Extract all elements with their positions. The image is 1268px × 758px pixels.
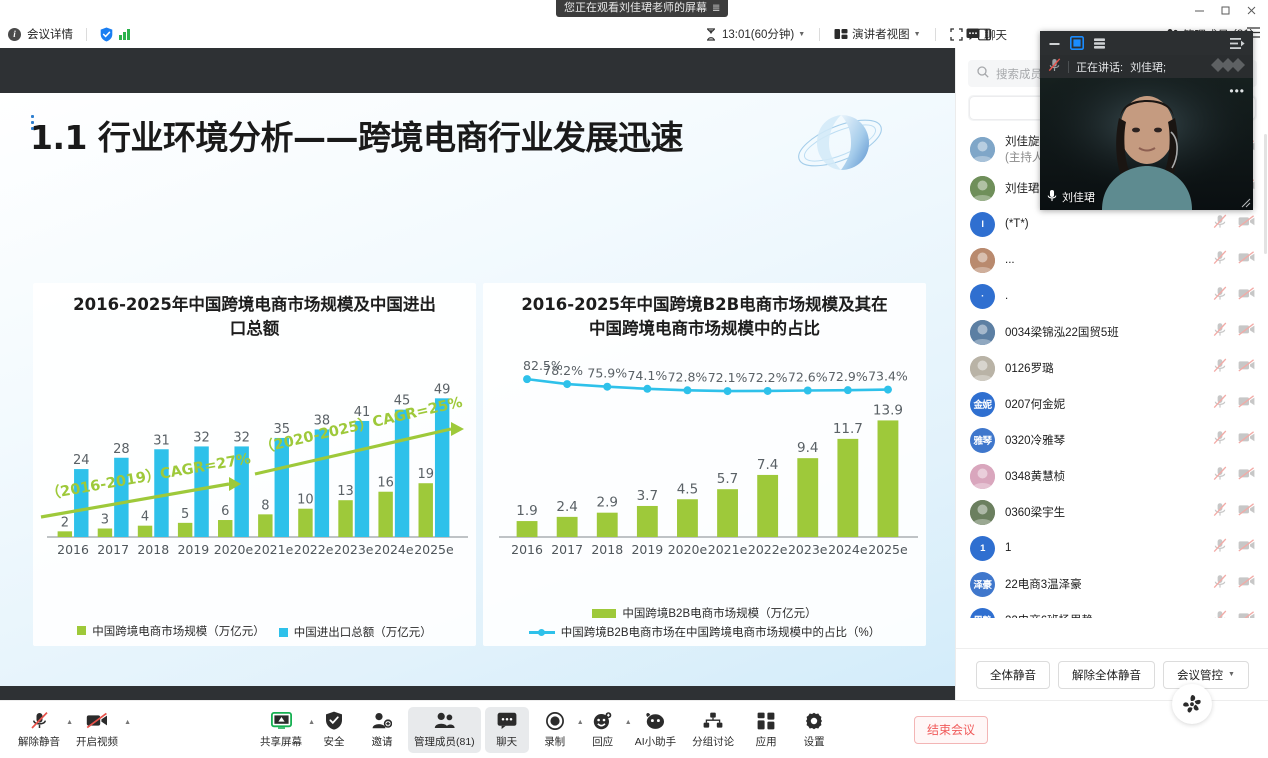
participant-status-icons bbox=[1213, 358, 1255, 378]
toolbar-button-label: 共享屏幕 bbox=[260, 734, 302, 749]
participant-name: 22电商3温泽豪 bbox=[1005, 576, 1203, 592]
legend-entry: 中国跨境电商市场规模（万亿元） bbox=[77, 621, 265, 640]
svg-text:32: 32 bbox=[233, 430, 250, 445]
speaker-video-window[interactable]: 正在讲话: 刘佳珺; bbox=[1040, 31, 1253, 210]
svg-text:10: 10 bbox=[297, 493, 314, 508]
end-meeting-wrap: 结束会议 bbox=[914, 716, 988, 744]
avatar bbox=[970, 176, 995, 201]
participant-name: 0126罗璐 bbox=[1005, 360, 1203, 376]
participant-name: 0207何金妮 bbox=[1005, 396, 1203, 412]
mic-muted-icon[interactable] bbox=[1213, 574, 1227, 594]
svg-text:2.4: 2.4 bbox=[556, 499, 577, 515]
toolbar-button-label: 回应 bbox=[592, 734, 613, 749]
avatar: 泽豪 bbox=[970, 572, 995, 597]
video-more-options-icon[interactable]: ••• bbox=[1229, 84, 1245, 98]
svg-text:28: 28 bbox=[113, 442, 130, 457]
svg-text:2.9: 2.9 bbox=[597, 495, 618, 511]
svg-text:2024e: 2024e bbox=[828, 542, 868, 557]
mic-muted-icon bbox=[30, 711, 49, 731]
chat-icon bbox=[497, 711, 517, 731]
svg-text:78.2%: 78.2% bbox=[543, 363, 583, 378]
toolbar-left-group: 解除静音▲开启视频▲ bbox=[12, 707, 124, 753]
toolbar-button-breakout-rooms[interactable]: 分组讨论 bbox=[686, 707, 740, 753]
svg-text:2018: 2018 bbox=[137, 542, 169, 557]
svg-text:2020e: 2020e bbox=[214, 542, 254, 557]
chart-title-right: 2016-2025年中国跨境B2B电商市场规模及其在中国跨境电商市场规模中的占比 bbox=[483, 283, 926, 341]
svg-text:2018: 2018 bbox=[591, 542, 623, 557]
chat-icon bbox=[966, 28, 980, 43]
chart-title-left: 2016-2025年中国跨境电商市场规模及中国进出口总额 bbox=[33, 283, 476, 341]
avatar bbox=[970, 320, 995, 345]
svg-text:31: 31 bbox=[153, 433, 170, 448]
meeting-control-button[interactable]: 会议管控 ▼ bbox=[1163, 661, 1249, 689]
avatar bbox=[970, 248, 995, 273]
speaker-view-icon bbox=[834, 27, 848, 41]
legend-label: 中国跨境B2B电商市场在中国跨境电商市场规模中的占比（%） bbox=[561, 624, 880, 640]
divider bbox=[935, 28, 936, 41]
avatar bbox=[970, 356, 995, 381]
mute-all-button[interactable]: 全体静音 bbox=[976, 661, 1050, 689]
svg-text:7.4: 7.4 bbox=[757, 457, 778, 473]
toolbar-button-shield[interactable]: 安全 bbox=[312, 707, 356, 753]
svg-text:2019: 2019 bbox=[177, 542, 209, 557]
participant-row[interactable]: ... bbox=[956, 242, 1268, 278]
camera-off-icon[interactable] bbox=[1238, 539, 1255, 557]
video-name-label: 刘佳珺 bbox=[1062, 189, 1095, 205]
camera-off-icon[interactable] bbox=[1238, 467, 1255, 485]
svg-text:4: 4 bbox=[141, 510, 149, 525]
now-speaking-bar: 正在讲话: 刘佳珺; bbox=[1040, 55, 1253, 78]
participants-icon bbox=[434, 711, 455, 731]
toolbar-button-invite[interactable]: 邀请 bbox=[360, 707, 404, 753]
camera-off-icon[interactable] bbox=[1238, 395, 1255, 413]
mic-muted-icon[interactable] bbox=[1213, 466, 1227, 486]
chart-plot-left: 22420163282017431201853220196322020e8352… bbox=[33, 341, 476, 596]
svg-text:11.7: 11.7 bbox=[833, 421, 863, 437]
participant-status-icons bbox=[1213, 214, 1255, 234]
settings-gear-icon bbox=[805, 711, 823, 731]
toolbar-button-record[interactable]: 录制▲ bbox=[533, 707, 577, 753]
legend-entry: 中国跨境B2B电商市场在中国跨境电商市场规模中的占比（%） bbox=[483, 624, 926, 640]
svg-text:72.1%: 72.1% bbox=[708, 370, 748, 385]
meeting-control-label: 会议管控 bbox=[1177, 667, 1223, 683]
svg-text:2025e: 2025e bbox=[414, 542, 454, 557]
participant-name: 0320冷雅琴 bbox=[1005, 432, 1203, 448]
minimize-button[interactable] bbox=[1186, 0, 1212, 20]
legend-entry: 中国进出口总额（万亿元） bbox=[279, 624, 432, 640]
participant-row[interactable]: 金妮0207何金妮 bbox=[956, 386, 1268, 422]
end-meeting-button[interactable]: 结束会议 bbox=[914, 716, 988, 744]
participant-status-icons bbox=[1213, 466, 1255, 486]
hourglass-icon bbox=[704, 27, 718, 41]
toolbar-button-label: 邀请 bbox=[372, 734, 393, 749]
divider bbox=[86, 28, 87, 41]
avatar bbox=[970, 137, 995, 162]
toolbar-button-mic-muted[interactable]: 解除静音▲ bbox=[12, 707, 66, 753]
svg-text:13: 13 bbox=[337, 484, 354, 499]
slide-title: 1.1 行业环境分析——跨境电商行业发展迅速 bbox=[30, 111, 683, 159]
svg-text:2: 2 bbox=[61, 515, 69, 530]
svg-text:72.9%: 72.9% bbox=[828, 369, 868, 384]
participant-status-icons bbox=[1213, 574, 1255, 594]
svg-text:32: 32 bbox=[193, 430, 210, 445]
svg-text:72.2%: 72.2% bbox=[748, 370, 788, 385]
chevron-down-icon: ▼ bbox=[1228, 671, 1235, 678]
mic-muted-icon[interactable] bbox=[1213, 538, 1227, 558]
avatar: · bbox=[970, 284, 995, 309]
meeting-toolbar: 解除静音▲开启视频▲ 共享屏幕▲安全邀请管理成员(81)聊天录制▲回应▲AI小助… bbox=[0, 700, 1268, 758]
chart-card-right: 2016-2025年中国跨境B2B电商市场规模及其在中国跨境电商市场规模中的占比… bbox=[483, 283, 926, 646]
svg-text:75.9%: 75.9% bbox=[587, 366, 627, 381]
participant-name: (*T*) bbox=[1005, 218, 1203, 230]
toolbar-button-reaction[interactable]: 回应▲ bbox=[581, 707, 625, 753]
participant-status-icons bbox=[1213, 502, 1255, 522]
window-controls bbox=[1186, 0, 1264, 20]
search-icon bbox=[977, 66, 989, 81]
video-minimize-icon[interactable] bbox=[1048, 37, 1061, 50]
participant-name: 0348黄慧桢 bbox=[1005, 468, 1203, 484]
divider bbox=[1068, 61, 1069, 73]
svg-text:2016: 2016 bbox=[57, 542, 89, 557]
now-speaking-name: 刘佳珺; bbox=[1130, 59, 1166, 75]
toolbar-button-label: 解除静音 bbox=[18, 734, 60, 749]
close-button[interactable] bbox=[1238, 0, 1264, 20]
svg-text:2020e: 2020e bbox=[668, 542, 708, 557]
participant-row[interactable]: 0348黄慧桢 bbox=[956, 458, 1268, 494]
camera-off-icon[interactable] bbox=[1238, 215, 1255, 233]
avatar: 雅琴 bbox=[970, 428, 995, 453]
participant-row[interactable]: ·. bbox=[956, 278, 1268, 314]
svg-text:2017: 2017 bbox=[551, 542, 583, 557]
participant-status-icons bbox=[1213, 538, 1255, 558]
svg-text:2023e: 2023e bbox=[334, 542, 374, 557]
video-single-layout-icon[interactable] bbox=[1070, 36, 1084, 50]
camera-off-icon bbox=[86, 711, 108, 731]
shield-icon bbox=[325, 711, 343, 731]
participant-status-icons bbox=[1213, 286, 1255, 306]
network-signal-icon[interactable] bbox=[119, 28, 130, 40]
svg-text:16: 16 bbox=[377, 476, 394, 491]
speaker-video-feed: ••• 刘佳珺 bbox=[1040, 78, 1253, 210]
toolbar-button-chat[interactable]: 聊天 bbox=[485, 707, 529, 753]
svg-text:73.4%: 73.4% bbox=[868, 368, 908, 383]
participant-row[interactable]: 0360梁宇生 bbox=[956, 494, 1268, 530]
svg-text:49: 49 bbox=[434, 382, 451, 397]
toolbar-button-label: 设置 bbox=[804, 734, 825, 749]
mic-muted-icon[interactable] bbox=[1213, 214, 1227, 234]
end-meeting-label: 结束会议 bbox=[927, 721, 975, 738]
svg-text:6: 6 bbox=[221, 504, 229, 519]
mic-muted-icon bbox=[1048, 58, 1061, 75]
svg-text:2017: 2017 bbox=[97, 542, 129, 557]
divider bbox=[819, 28, 820, 41]
mic-active-icon bbox=[1046, 189, 1058, 205]
mute-all-label: 全体静音 bbox=[990, 667, 1036, 683]
meeting-timer[interactable]: 13:01(60分钟) ▼ bbox=[697, 26, 812, 42]
svg-text:3.7: 3.7 bbox=[637, 488, 658, 504]
participants-scrollbar[interactable] bbox=[1264, 134, 1267, 254]
presentation-slide: 1.1 行业环境分析——跨境电商行业发展迅速 2016-2025年中国跨境电商市… bbox=[0, 93, 955, 686]
camera-off-icon[interactable] bbox=[1238, 611, 1255, 618]
participant-row[interactable]: l(*T*) bbox=[956, 206, 1268, 242]
participant-status-icons bbox=[1213, 610, 1255, 618]
svg-text:9.4: 9.4 bbox=[797, 440, 818, 456]
toolbar-button-share-screen[interactable]: 共享屏幕▲ bbox=[254, 707, 308, 753]
legend-swatch bbox=[592, 609, 616, 618]
toolbar-button-participants[interactable]: 管理成员(81) bbox=[408, 707, 481, 753]
participant-status-icons bbox=[1213, 394, 1255, 414]
svg-text:2021e: 2021e bbox=[708, 542, 748, 557]
mic-muted-icon[interactable] bbox=[1213, 430, 1227, 450]
mic-muted-icon[interactable] bbox=[1213, 286, 1227, 306]
mic-muted-icon[interactable] bbox=[1213, 322, 1227, 342]
camera-off-icon[interactable] bbox=[1238, 323, 1255, 341]
svg-text:2022e: 2022e bbox=[748, 542, 788, 557]
participant-row[interactable]: 思静22电商6班杨思静 bbox=[956, 602, 1268, 618]
watching-screen-text: 您正在观看刘佳珺老师的屏幕 bbox=[564, 0, 707, 17]
toolbar-button-ai-assistant[interactable]: AI小助手 bbox=[629, 707, 682, 753]
chart-plot-right: 1.920162.420172.920183.720194.52020e5.72… bbox=[483, 341, 926, 596]
tab-chat[interactable]: 聊天 bbox=[966, 27, 1007, 43]
participant-row[interactable]: 0034梁锦泓22国贸5班 bbox=[956, 314, 1268, 350]
record-icon bbox=[546, 711, 564, 731]
participant-name: 1 bbox=[1005, 542, 1203, 554]
legend-label: 中国跨境电商市场规模（万亿元） bbox=[92, 623, 265, 639]
legend-label: 中国跨境B2B电商市场规模（万亿元） bbox=[622, 605, 816, 621]
toolbar-button-label: 开启视频 bbox=[76, 734, 118, 749]
chevron-up-icon[interactable]: ▲ bbox=[124, 719, 131, 726]
legend-label: 中国进出口总额（万亿元） bbox=[294, 624, 432, 640]
mic-muted-icon[interactable] bbox=[1213, 358, 1227, 378]
ai-assistant-icon bbox=[1180, 692, 1204, 716]
info-icon: i bbox=[8, 28, 21, 41]
chart-svg-right: 1.920162.420172.920183.720194.52020e5.72… bbox=[483, 341, 926, 591]
toolbar-button-label: 聊天 bbox=[496, 734, 517, 749]
svg-text:2023e: 2023e bbox=[788, 542, 828, 557]
toolbar-button-label: AI小助手 bbox=[635, 734, 676, 749]
svg-text:2024e: 2024e bbox=[374, 542, 414, 557]
participant-row[interactable]: 雅琴0320冷雅琴 bbox=[956, 422, 1268, 458]
participant-status-icons bbox=[1213, 250, 1255, 270]
avatar: 思静 bbox=[970, 608, 995, 619]
svg-text:1.9: 1.9 bbox=[516, 503, 537, 519]
view-mode-selector[interactable]: 演讲者视图 ▼ bbox=[827, 26, 927, 42]
shared-screen-area[interactable]: 1.1 行业环境分析——跨境电商行业发展迅速 2016-2025年中国跨境电商市… bbox=[0, 48, 955, 700]
share-screen-icon bbox=[271, 711, 292, 731]
maximize-button[interactable] bbox=[1212, 0, 1238, 20]
svg-text:2022e: 2022e bbox=[294, 542, 334, 557]
chart-card-left: 2016-2025年中国跨境电商市场规模及中国进出口总额 22420163282… bbox=[33, 283, 476, 646]
svg-text:72.6%: 72.6% bbox=[788, 369, 828, 384]
mic-muted-icon[interactable] bbox=[1213, 610, 1227, 618]
svg-text:72.8%: 72.8% bbox=[668, 369, 708, 384]
toolbar-button-label: 安全 bbox=[324, 734, 345, 749]
participant-status-icons bbox=[1213, 322, 1255, 342]
globe-decoration-icon bbox=[785, 103, 895, 183]
svg-text:5: 5 bbox=[181, 507, 189, 522]
camera-off-icon[interactable] bbox=[1238, 359, 1255, 377]
chevron-down-icon[interactable]: ▼ bbox=[914, 31, 921, 38]
reaction-icon bbox=[592, 711, 613, 731]
legend-swatch bbox=[279, 628, 288, 637]
toolbar-button-label: 分组讨论 bbox=[692, 734, 734, 749]
watching-screen-banner: 您正在观看刘佳珺老师的屏幕 ≣ bbox=[556, 0, 728, 17]
toolbar-button-label: 应用 bbox=[756, 734, 777, 749]
participant-name: . bbox=[1005, 290, 1203, 302]
toolbar-button-label: 录制 bbox=[544, 734, 565, 749]
participants-footer: 全体静音 解除全体静音 会议管控 ▼ bbox=[956, 648, 1268, 700]
participant-row[interactable]: 11 bbox=[956, 530, 1268, 566]
svg-text:13.9: 13.9 bbox=[873, 402, 903, 418]
legend-line-marker bbox=[529, 631, 555, 634]
svg-text:5.7: 5.7 bbox=[717, 471, 738, 487]
svg-text:8: 8 bbox=[261, 498, 269, 513]
chevron-down-icon[interactable]: ▼ bbox=[798, 31, 805, 38]
now-speaking-label: 正在讲话: bbox=[1076, 59, 1123, 75]
view-mode-label: 演讲者视图 bbox=[852, 26, 910, 42]
legend-entry: 中国跨境B2B电商市场规模（万亿元） bbox=[483, 605, 926, 621]
svg-text:4.5: 4.5 bbox=[677, 481, 698, 497]
mic-muted-icon[interactable] bbox=[1213, 502, 1227, 522]
avatar: 金妮 bbox=[970, 392, 995, 417]
toolbar-button-settings-gear[interactable]: 设置 bbox=[792, 707, 836, 753]
video-participant-name: 刘佳珺 bbox=[1046, 189, 1095, 205]
participant-status-icons bbox=[1213, 430, 1255, 450]
apps-icon bbox=[757, 711, 775, 731]
meeting-controls-center: 13:01(60分钟) ▼ 演讲者视图 ▼ bbox=[697, 20, 999, 48]
meeting-detail-group[interactable]: i 会议详情 bbox=[8, 26, 130, 42]
unmute-all-label: 解除全体静音 bbox=[1072, 667, 1141, 683]
invite-icon bbox=[372, 711, 392, 731]
ai-assistant-icon bbox=[645, 711, 666, 731]
participant-name: 22电商6班杨思静 bbox=[1005, 612, 1203, 618]
svg-text:19: 19 bbox=[417, 467, 434, 482]
video-list-layout-icon[interactable] bbox=[1093, 37, 1106, 50]
ai-assistant-floating-button[interactable] bbox=[1172, 684, 1212, 724]
toolbar-center-group: 共享屏幕▲安全邀请管理成员(81)聊天录制▲回应▲AI小助手分组讨论应用设置 bbox=[254, 707, 836, 753]
camera-off-icon[interactable] bbox=[1238, 251, 1255, 269]
chart-legend-right: 中国跨境B2B电商市场规模（万亿元） 中国跨境B2B电商市场在中国跨境电商市场规… bbox=[483, 605, 926, 640]
resize-grip-icon[interactable] bbox=[1239, 196, 1251, 208]
participant-name: ... bbox=[1005, 254, 1203, 266]
unmute-all-button[interactable]: 解除全体静音 bbox=[1058, 661, 1155, 689]
toolbar-button-camera-off[interactable]: 开启视频▲ bbox=[70, 707, 124, 753]
avatar bbox=[970, 464, 995, 489]
meeting-detail-label: 会议详情 bbox=[27, 26, 73, 42]
tab-chat-label: 聊天 bbox=[984, 27, 1007, 43]
participant-row[interactable]: 泽豪22电商3温泽豪 bbox=[956, 566, 1268, 602]
participant-name: 0360梁宇生 bbox=[1005, 504, 1203, 520]
participant-row[interactable]: 0126罗璐 bbox=[956, 350, 1268, 386]
encryption-shield-icon[interactable] bbox=[100, 27, 113, 42]
meeting-window: 您正在观看刘佳珺老师的屏幕 ≣ i 会议详情 13:01(60分钟) ▼ bbox=[0, 0, 1268, 758]
svg-text:2021e: 2021e bbox=[254, 542, 294, 557]
mic-muted-icon[interactable] bbox=[1213, 250, 1227, 270]
camera-off-icon[interactable] bbox=[1238, 287, 1255, 305]
svg-text:24: 24 bbox=[73, 453, 90, 468]
video-expand-panel-icon[interactable] bbox=[1230, 37, 1245, 50]
search-members-placeholder: 搜索成员 bbox=[996, 66, 1042, 82]
participant-name: 0034梁锦泓22国贸5班 bbox=[1005, 324, 1203, 340]
svg-text:2025e: 2025e bbox=[868, 542, 908, 557]
avatar bbox=[970, 500, 995, 525]
toolbar-button-label: 管理成员(81) bbox=[414, 734, 475, 749]
toolbar-button-apps[interactable]: 应用 bbox=[744, 707, 788, 753]
breakout-rooms-icon bbox=[703, 711, 723, 731]
video-window-toolbar bbox=[1040, 31, 1253, 55]
banner-menu-icon[interactable]: ≣ bbox=[712, 0, 720, 17]
avatar: 1 bbox=[970, 536, 995, 561]
svg-text:2016: 2016 bbox=[511, 542, 543, 557]
audio-wave-icon bbox=[1211, 57, 1245, 76]
camera-off-icon[interactable] bbox=[1238, 575, 1255, 593]
meeting-timer-label: 13:01(60分钟) bbox=[722, 26, 794, 42]
chart-legend-left: 中国跨境电商市场规模（万亿元） 中国进出口总额（万亿元） bbox=[33, 621, 476, 640]
chart-svg-left: 22420163282017431201853220196322020e8352… bbox=[33, 341, 476, 591]
legend-swatch bbox=[77, 626, 86, 635]
camera-off-icon[interactable] bbox=[1238, 503, 1255, 521]
mic-muted-icon[interactable] bbox=[1213, 394, 1227, 414]
avatar: l bbox=[970, 212, 995, 237]
svg-text:3: 3 bbox=[101, 512, 109, 527]
camera-off-icon[interactable] bbox=[1238, 431, 1255, 449]
svg-text:2019: 2019 bbox=[631, 542, 663, 557]
svg-text:74.1%: 74.1% bbox=[627, 368, 667, 383]
